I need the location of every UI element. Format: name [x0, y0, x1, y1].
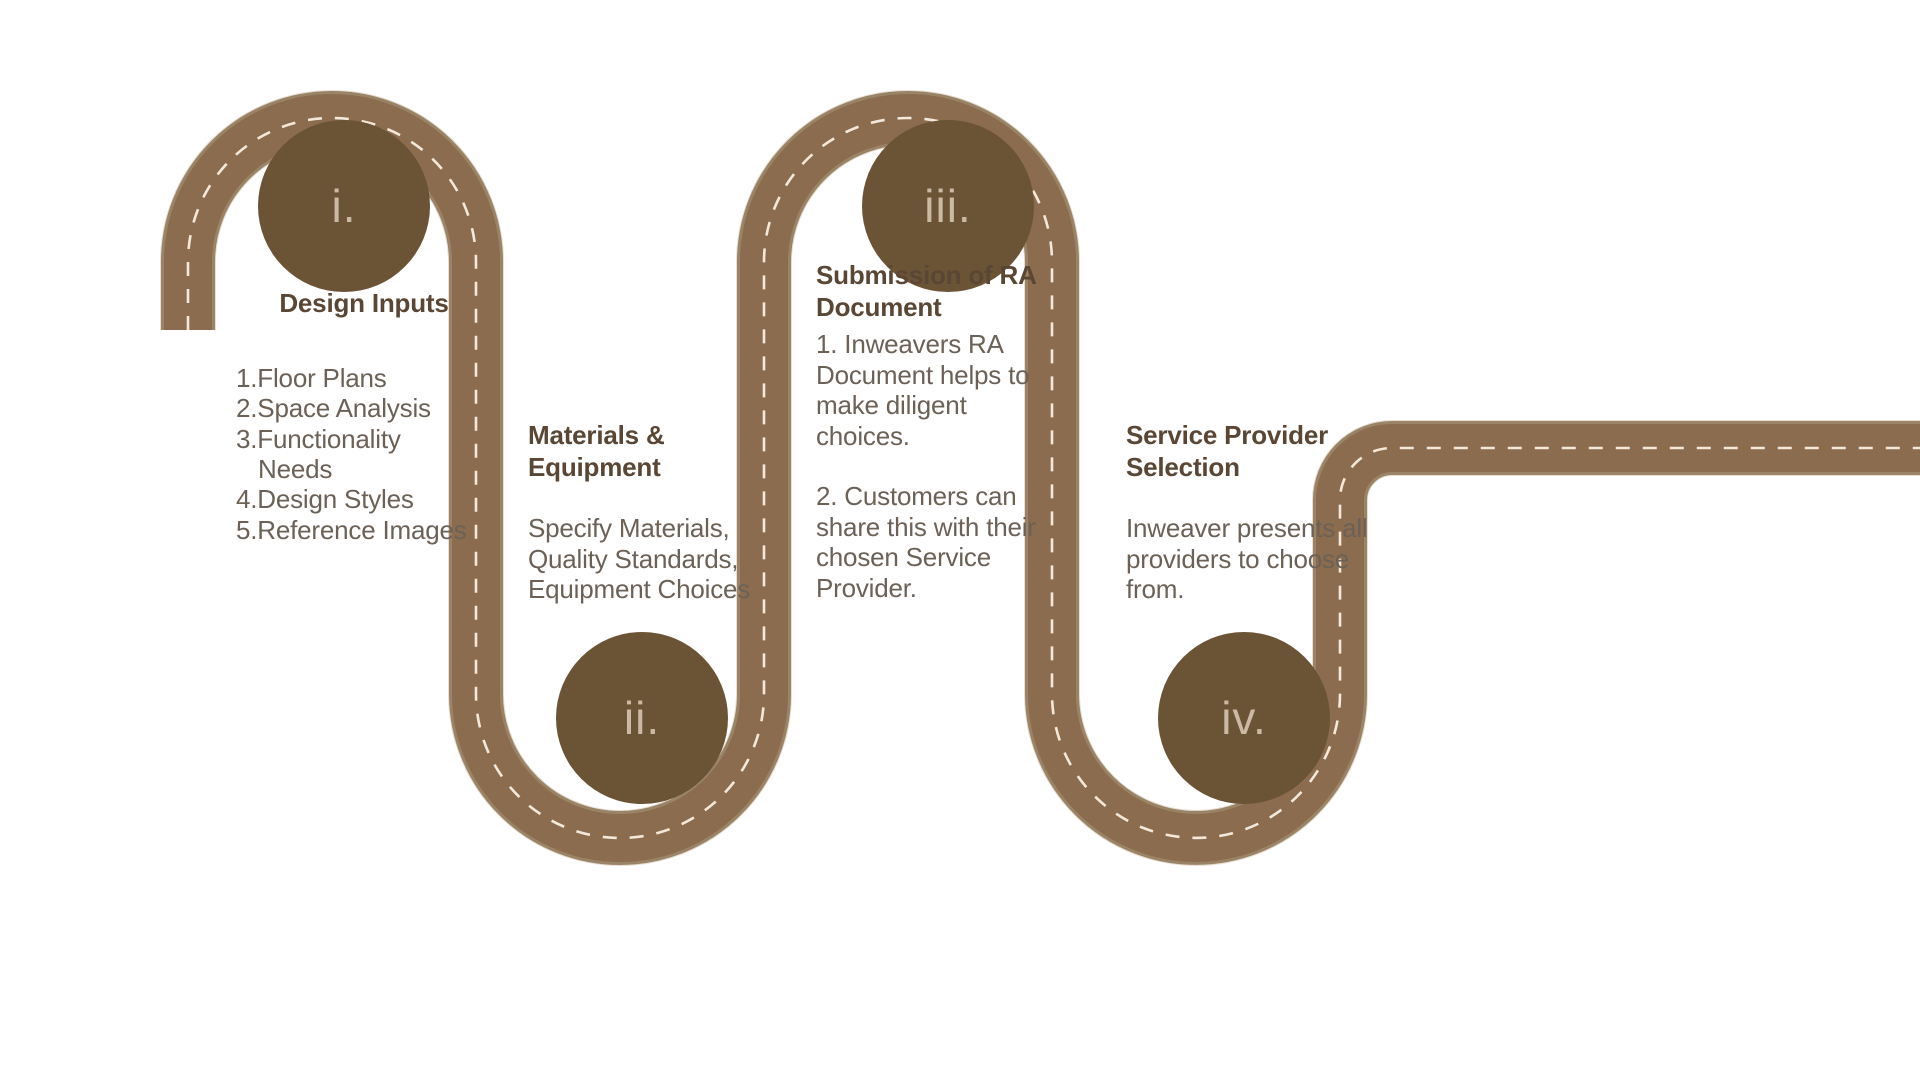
list-item-text: Reference Images	[257, 515, 466, 545]
list-item-text-continued: Needs	[236, 454, 514, 484]
list-item-number: 3.	[236, 424, 257, 454]
badge-step-2-label: ii.	[624, 695, 660, 741]
list-item-text: Design Styles	[257, 484, 413, 514]
list-item-number: 1.	[236, 363, 257, 393]
step-4-heading: Service Provider Selection	[1126, 420, 1370, 483]
infographic-canvas: i. ii. iii. iv. Design Inputs 1.Floor Pl…	[0, 0, 1920, 1080]
list-item: 5.Reference Images	[236, 515, 514, 545]
step-block-ra-document: Submission of RA Document 1. Inweavers R…	[816, 260, 1046, 603]
step-4-body: Inweaver presents all providers to choos…	[1126, 513, 1370, 604]
list-item-number: 4.	[236, 484, 257, 514]
badge-step-1-label: i.	[332, 183, 357, 229]
step-2-paragraph: Specify Materials, Quality Standards, Eq…	[528, 513, 760, 604]
list-item-text: Functionality	[257, 424, 400, 454]
list-item-text: Floor Plans	[257, 363, 386, 393]
step-3-paragraph-1: 1. Inweavers RA Document helps to make d…	[816, 329, 1046, 451]
list-item-number: 5.	[236, 515, 257, 545]
list-item: 2.Space Analysis	[236, 393, 514, 423]
step-1-list: 1.Floor Plans 2.Space Analysis 3.Functio…	[214, 363, 514, 545]
step-2-body: Specify Materials, Quality Standards, Eq…	[528, 513, 760, 604]
badge-step-4-label: iv.	[1221, 695, 1267, 741]
step-3-body: 1. Inweavers RA Document helps to make d…	[816, 329, 1046, 603]
badge-step-2: ii.	[556, 632, 728, 804]
list-item: 3.Functionality Needs	[236, 424, 514, 485]
step-block-service-provider: Service Provider Selection Inweaver pres…	[1126, 420, 1370, 605]
step-3-paragraph-2: 2. Customers can share this with their c…	[816, 481, 1046, 603]
step-block-design-inputs: Design Inputs 1.Floor Plans 2.Space Anal…	[214, 288, 514, 545]
badge-step-3-label: iii.	[924, 183, 971, 229]
list-item: 1.Floor Plans	[236, 363, 514, 393]
badge-step-1: i.	[258, 120, 430, 292]
step-2-heading: Materials & Equipment	[528, 420, 760, 483]
list-item-text: Space Analysis	[257, 393, 431, 423]
list-item-number: 2.	[236, 393, 257, 423]
step-1-heading: Design Inputs	[214, 288, 514, 320]
step-3-heading: Submission of RA Document	[816, 260, 1046, 323]
list-item: 4.Design Styles	[236, 484, 514, 514]
step-block-materials-equipment: Materials & Equipment Specify Materials,…	[528, 420, 760, 605]
step-4-paragraph: Inweaver presents all providers to choos…	[1126, 513, 1370, 604]
badge-step-4: iv.	[1158, 632, 1330, 804]
